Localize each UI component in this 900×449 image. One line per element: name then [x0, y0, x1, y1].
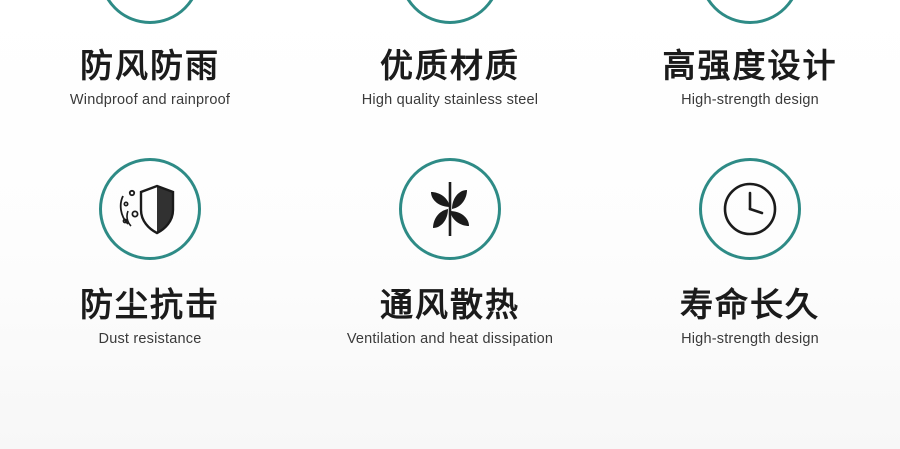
feature-title-en: High-strength design [681, 92, 819, 108]
feature-title-cn: 寿命长久 [680, 286, 820, 324]
feature-title-en: Windproof and rainproof [70, 92, 230, 108]
feature-item-ventilation: 通风散热 Ventilation and heat dissipation [300, 118, 600, 449]
shield-strength-icon [699, 0, 801, 24]
feature-title-cn: 通风散热 [380, 286, 520, 324]
umbrella-rain-icon [99, 0, 201, 24]
feature-title-en: High-strength design [681, 331, 819, 347]
feature-item-material: 优质材质 High quality stainless steel [300, 0, 600, 118]
feature-item-lifespan: 寿命长久 High-strength design [600, 118, 900, 449]
feature-title-en: Dust resistance [99, 331, 202, 347]
feature-grid: 防风防雨 Windproof and rainproof 优质材质 High q… [0, 0, 900, 449]
feature-title-en: High quality stainless steel [362, 92, 538, 108]
feature-title-cn: 防尘抗击 [80, 286, 220, 324]
feature-title-cn: 优质材质 [380, 47, 520, 85]
fan-ventilation-icon [399, 158, 501, 260]
feature-highlights-page: 防风防雨 Windproof and rainproof 优质材质 High q… [0, 0, 900, 449]
dust-resistance-icon [99, 158, 201, 260]
steel-plate-icon [399, 0, 501, 24]
feature-item-windproof: 防风防雨 Windproof and rainproof [0, 0, 300, 118]
feature-title-cn: 高强度设计 [663, 47, 838, 85]
feature-title-en: Ventilation and heat dissipation [347, 331, 553, 347]
clock-lifespan-icon [699, 158, 801, 260]
feature-item-strength: 高强度设计 High-strength design [600, 0, 900, 118]
feature-title-cn: 防风防雨 [80, 47, 220, 85]
feature-item-dust: 防尘抗击 Dust resistance [0, 118, 300, 449]
